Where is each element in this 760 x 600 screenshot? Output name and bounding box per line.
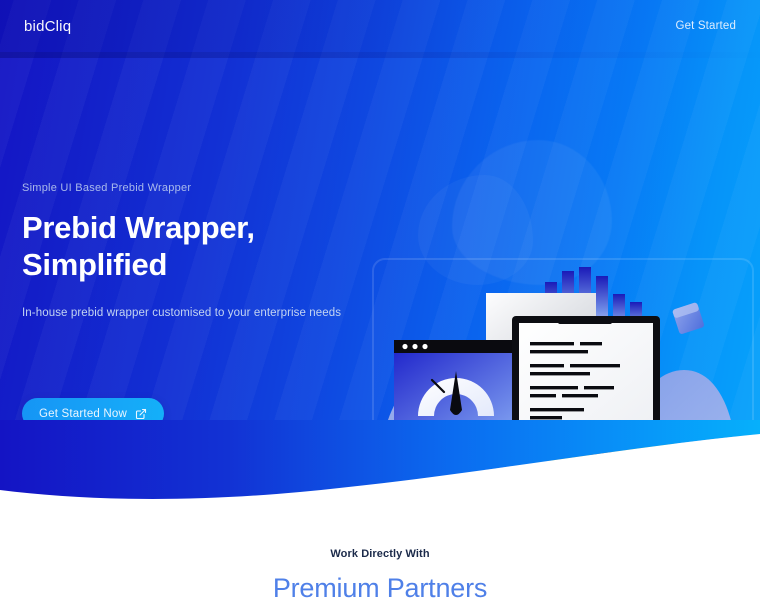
external-link-icon xyxy=(135,408,147,420)
hero-copy: Simple UI Based Prebid Wrapper Prebid Wr… xyxy=(22,182,422,322)
bottom-wave-divider xyxy=(0,420,760,530)
nav-get-started-link[interactable]: Get Started xyxy=(676,20,736,32)
header-divider xyxy=(0,52,760,58)
partners-kicker: Work Directly With xyxy=(0,548,760,560)
browser-window-gauge xyxy=(394,340,518,426)
hero-headline-line1: Prebid Wrapper, xyxy=(22,210,255,245)
get-started-now-label: Get Started Now xyxy=(39,408,127,420)
hero-subcopy: In-house prebid wrapper customised to yo… xyxy=(22,305,422,322)
hero-eyebrow: Simple UI Based Prebid Wrapper xyxy=(22,182,422,194)
hero-headline-line2: Simplified xyxy=(22,247,422,284)
partners-title: Premium Partners xyxy=(0,574,760,600)
hero-headline: Prebid Wrapper, Simplified xyxy=(22,210,422,283)
partners-section: Work Directly With Premium Partners xyxy=(0,548,760,600)
floating-cube xyxy=(672,302,705,335)
brand-logo[interactable]: bidCliq xyxy=(24,18,71,35)
landing-page: bidCliq Get Started Simple UI Based Preb… xyxy=(0,0,760,600)
top-navigation: bidCliq Get Started xyxy=(0,0,760,52)
